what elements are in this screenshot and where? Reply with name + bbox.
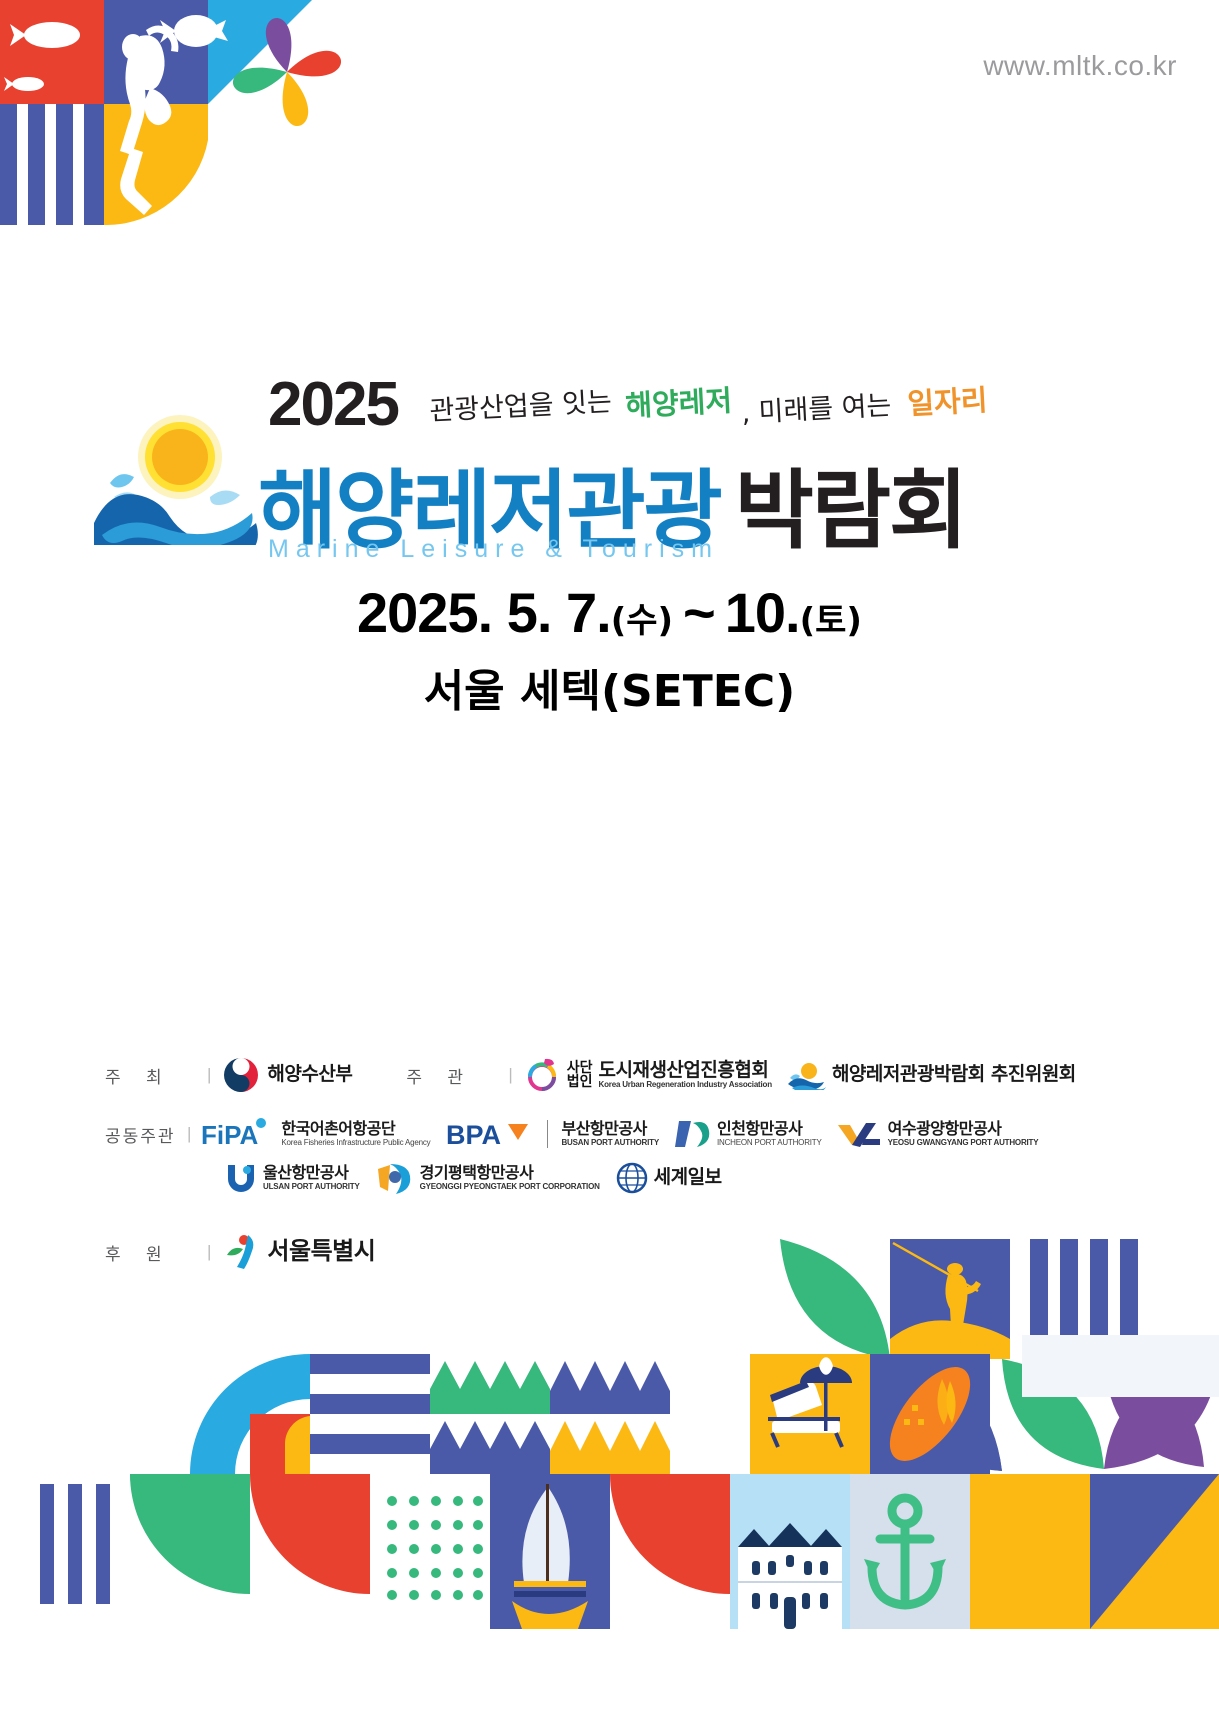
building-tile	[730, 1474, 850, 1629]
org-name: 해양수산부	[267, 1065, 352, 1085]
org-prefix: 사단법인	[567, 1061, 593, 1089]
organizer-label: 주 관	[406, 1063, 506, 1088]
anchor-tile	[850, 1474, 970, 1629]
fipa-logo-icon: FiPA	[201, 1117, 275, 1151]
co-organizer-separator: |	[187, 1124, 191, 1144]
dots-tile	[370, 1474, 490, 1600]
org-logo-kuria: 사단법인 도시재생산업진흥협회 Korea Urban Regeneration…	[523, 1056, 772, 1094]
event-tagline: 관광산업을 잇는 해양레저 , 미래를 여는 일자리	[430, 382, 1000, 438]
organizer-separator: |	[508, 1065, 512, 1085]
svg-text:FiPA: FiPA	[201, 1120, 259, 1150]
event-date-end: 10.	[725, 581, 800, 644]
website-url[interactable]: www.mltk.co.kr	[983, 50, 1177, 82]
org-logo-committee: 해양레저관광박람회 추진위원회	[788, 1060, 1076, 1090]
divider	[547, 1120, 548, 1148]
org-name: 부산항만공사	[561, 1121, 658, 1138]
org-name: 인천항만공사	[717, 1121, 822, 1138]
org-logo-mof: 해양수산부	[221, 1055, 352, 1095]
stripe-tile	[310, 1354, 430, 1474]
org-logo-gppc: 경기평택항만공사 GYEONGGI PYEONGTAEK PORT CORPOR…	[376, 1161, 600, 1195]
svg-text:BPA: BPA	[446, 1120, 501, 1150]
org-name: 경기평택항만공사	[420, 1165, 600, 1182]
stripes-tile	[0, 104, 104, 225]
credit-row-co-organizer-1: 공동주관 | FiPA 한국어촌어항공단 Korea Fisheries Inf…	[105, 1117, 1115, 1151]
org-name: 울산항만공사	[263, 1165, 360, 1182]
org-subname: Korea Urban Regeneration Industry Associ…	[599, 1080, 772, 1089]
event-date-start: 2025. 5. 7.	[357, 581, 611, 644]
org-logo-segye: 세계일보	[616, 1162, 722, 1194]
surfboard-tile	[870, 1354, 990, 1474]
ygpa-logo-icon	[838, 1119, 882, 1149]
leaf-tile	[780, 1239, 890, 1359]
org-logo-ipa: 인천항만공사 INCHEON PORT AUTHORITY	[675, 1117, 822, 1151]
org-name: 여수광양항만공사	[888, 1121, 1039, 1138]
upa-logo-icon	[225, 1161, 257, 1195]
bottom-decoration-mosaic	[0, 1229, 1219, 1729]
bpa-logo-icon: BPA	[446, 1118, 534, 1150]
kuria-ring-icon	[523, 1056, 561, 1094]
event-name-secondary: 박람회	[735, 461, 966, 561]
svg-text:일자리: 일자리	[907, 383, 989, 421]
org-subname: BUSAN PORT AUTHORITY	[561, 1138, 658, 1147]
fisherman-tile	[890, 1239, 1010, 1359]
org-name: 세계일보	[654, 1168, 722, 1188]
credit-row-host-organizer: 주 최 | 해양수산부 주 관 |	[105, 1055, 1115, 1095]
org-logo-fipa: FiPA 한국어촌어항공단 Korea Fisheries Infrastruc…	[201, 1117, 430, 1151]
org-subname: Korea Fisheries Infrastructure Public Ag…	[281, 1138, 430, 1147]
korea-government-taegeuk-icon	[221, 1055, 261, 1095]
event-date-start-day: (수)	[611, 601, 673, 641]
segye-globe-icon	[616, 1162, 648, 1194]
org-subname: GYEONGGI PYEONGTAEK PORT CORPORATION	[420, 1182, 600, 1191]
sun-wave-icon	[788, 1060, 826, 1090]
svg-text:관광산업을 잇는: 관광산업을 잇는	[430, 386, 613, 427]
event-year: 2025	[268, 374, 398, 436]
org-logo-ygpa: 여수광양항만공사 YEOSU GWANGYANG PORT AUTHORITY	[838, 1119, 1039, 1149]
stripe-tile	[1030, 1239, 1138, 1335]
org-name: 도시재생산업진흥협회	[599, 1061, 772, 1081]
poster-root: www.mltk.co.kr 2025 관광산업을 잇는 해양레저 , 미래를 …	[0, 0, 1219, 1729]
event-venue: 서울 세텍(SETEC)	[0, 655, 1219, 719]
event-date-end-day: (토)	[800, 601, 862, 641]
top-decoration-mosaic	[0, 0, 350, 225]
org-name: 한국어촌어항공단	[281, 1121, 430, 1138]
ipa-logo-icon	[675, 1117, 711, 1151]
beach-chair-tile	[750, 1354, 870, 1474]
host-label: 주 최	[105, 1063, 205, 1088]
event-date-row: 2025. 5. 7.(수)~10.(토)	[0, 580, 1219, 645]
sailboat-tile	[490, 1474, 610, 1629]
org-subname: INCHEON PORT AUTHORITY	[717, 1138, 822, 1147]
english-subtitle: Marine Leisure & Tourism	[268, 535, 719, 564]
org-subname: ULSAN PORT AUTHORITY	[263, 1182, 360, 1191]
title-block: 2025 관광산업을 잇는 해양레저 , 미래를 여는 일자리 해양레저관광박람…	[0, 360, 1219, 700]
org-logo-upa: 울산항만공사 ULSAN PORT AUTHORITY	[225, 1161, 360, 1195]
stripe-tile	[40, 1484, 110, 1604]
gppc-logo-icon	[376, 1161, 414, 1195]
org-subname: YEOSU GWANGYANG PORT AUTHORITY	[888, 1138, 1039, 1147]
sun-wave-emblem-icon	[92, 405, 277, 545]
event-date-tilde: ~	[683, 581, 715, 644]
svg-text:, 미래를 여는: , 미래를 여는	[741, 390, 892, 429]
co-organizer-label: 공동주관	[105, 1122, 185, 1147]
credit-row-co-organizer-2: 울산항만공사 ULSAN PORT AUTHORITY 경기평택항만공사 GYE…	[225, 1161, 1115, 1195]
org-logo-bpa: BPA 부산항만공사 BUSAN PORT AUTHORITY	[446, 1118, 658, 1150]
svg-text:해양레저: 해양레저	[625, 383, 733, 423]
host-separator: |	[207, 1065, 211, 1085]
zigzag-tile	[430, 1354, 670, 1474]
org-name: 해양레저관광박람회 추진위원회	[832, 1065, 1076, 1085]
